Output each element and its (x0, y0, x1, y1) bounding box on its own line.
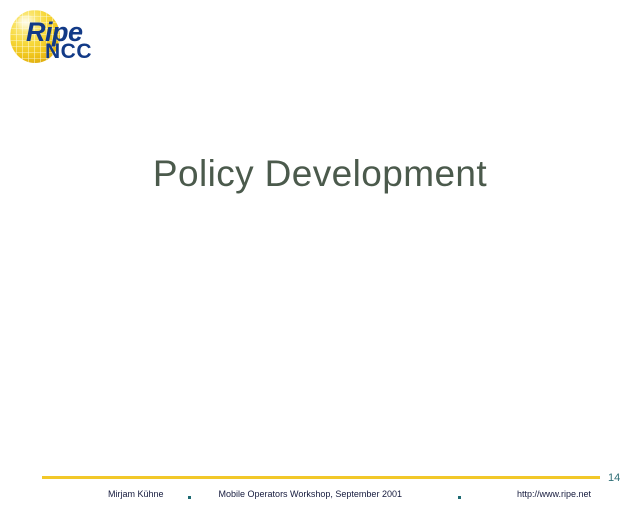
footer-event: Mobile Operators Workshop, September 200… (219, 488, 402, 500)
footer-url[interactable]: http://www.ripe.net (517, 488, 591, 500)
presentation-slide: Ripe NCC Policy Development Mirjam Kühne… (0, 0, 640, 512)
logo-suffix: NCC (45, 41, 92, 62)
footer-separator-dot-1 (188, 496, 191, 499)
footer-separator-dot-2 (458, 496, 461, 499)
slide-footer: Mirjam Kühne Mobile Operators Workshop, … (108, 487, 580, 501)
footer-divider (42, 476, 600, 479)
footer-author: Mirjam Kühne (108, 488, 164, 500)
ripe-ncc-logo: Ripe NCC (6, 7, 98, 67)
slide-title: Policy Development (0, 152, 640, 196)
slide-page-number: 14 (608, 472, 620, 485)
